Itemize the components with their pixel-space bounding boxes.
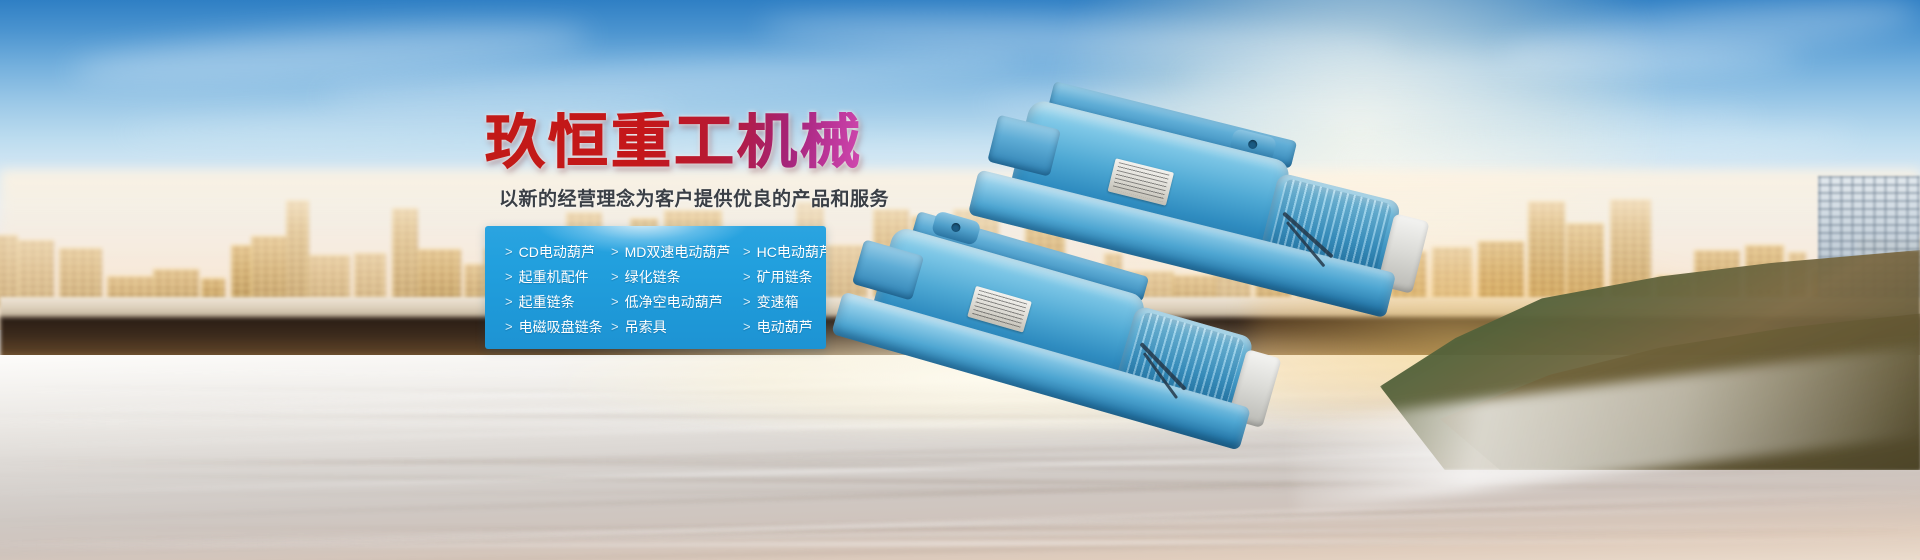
chevron-right-icon: > bbox=[611, 245, 619, 258]
product-category-item[interactable]: >起重机配件 bbox=[505, 264, 611, 289]
chevron-right-icon: > bbox=[611, 270, 619, 283]
chevron-right-icon: > bbox=[743, 245, 751, 258]
product-category-label: MD双速电动葫芦 bbox=[625, 242, 731, 262]
product-category-list: >CD电动葫芦>MD双速电动葫芦>HC电动葫芦>起重机配件>绿化链条>矿用链条>… bbox=[485, 226, 826, 349]
product-category-item[interactable]: >HC电动葫芦 bbox=[743, 239, 826, 264]
chevron-right-icon: > bbox=[743, 270, 751, 283]
product-category-panel: >CD电动葫芦>MD双速电动葫芦>HC电动葫芦>起重机配件>绿化链条>矿用链条>… bbox=[485, 226, 826, 349]
chevron-right-icon: > bbox=[743, 295, 751, 308]
chevron-right-icon: > bbox=[611, 295, 619, 308]
product-category-item[interactable]: >MD双速电动葫芦 bbox=[611, 239, 743, 264]
product-category-item[interactable]: >电磁吸盘链条 bbox=[505, 314, 611, 339]
product-category-label: 起重链条 bbox=[519, 292, 575, 312]
product-category-item[interactable]: >矿用链条 bbox=[743, 264, 826, 289]
chevron-right-icon: > bbox=[505, 270, 513, 283]
chevron-right-icon: > bbox=[611, 320, 619, 333]
hero-banner: 玖恒重工机械 以新的经营理念为客户提供优良的产品和服务 >CD电动葫芦>MD双速… bbox=[0, 0, 1920, 560]
page-subtitle: 以新的经营理念为客户提供优良的产品和服务 bbox=[499, 184, 889, 211]
chevron-right-icon: > bbox=[743, 320, 751, 333]
chevron-right-icon: > bbox=[505, 320, 513, 333]
chevron-right-icon: > bbox=[505, 295, 513, 308]
product-category-item[interactable]: >起重链条 bbox=[505, 289, 611, 314]
product-category-label: 电磁吸盘链条 bbox=[519, 317, 603, 337]
product-category-item[interactable]: >低净空电动葫芦 bbox=[611, 289, 743, 314]
product-category-item[interactable]: >CD电动葫芦 bbox=[505, 239, 611, 264]
product-category-label: 起重机配件 bbox=[519, 267, 589, 287]
product-category-label: CD电动葫芦 bbox=[519, 242, 595, 262]
product-category-label: 变速箱 bbox=[757, 292, 799, 312]
product-category-item[interactable]: >变速箱 bbox=[743, 289, 826, 314]
page-title: 玖恒重工机械 bbox=[485, 112, 863, 172]
product-category-label: 吊索具 bbox=[625, 317, 667, 337]
chevron-right-icon: > bbox=[505, 245, 513, 258]
product-category-label: 矿用链条 bbox=[757, 267, 813, 287]
product-category-label: HC电动葫芦 bbox=[757, 242, 826, 262]
product-category-label: 绿化链条 bbox=[625, 267, 681, 287]
product-category-item[interactable]: >电动葫芦 bbox=[743, 314, 826, 339]
product-category-label: 电动葫芦 bbox=[757, 317, 813, 337]
product-category-item[interactable]: >吊索具 bbox=[611, 314, 743, 339]
product-category-label: 低净空电动葫芦 bbox=[625, 292, 723, 312]
product-category-item[interactable]: >绿化链条 bbox=[611, 264, 743, 289]
